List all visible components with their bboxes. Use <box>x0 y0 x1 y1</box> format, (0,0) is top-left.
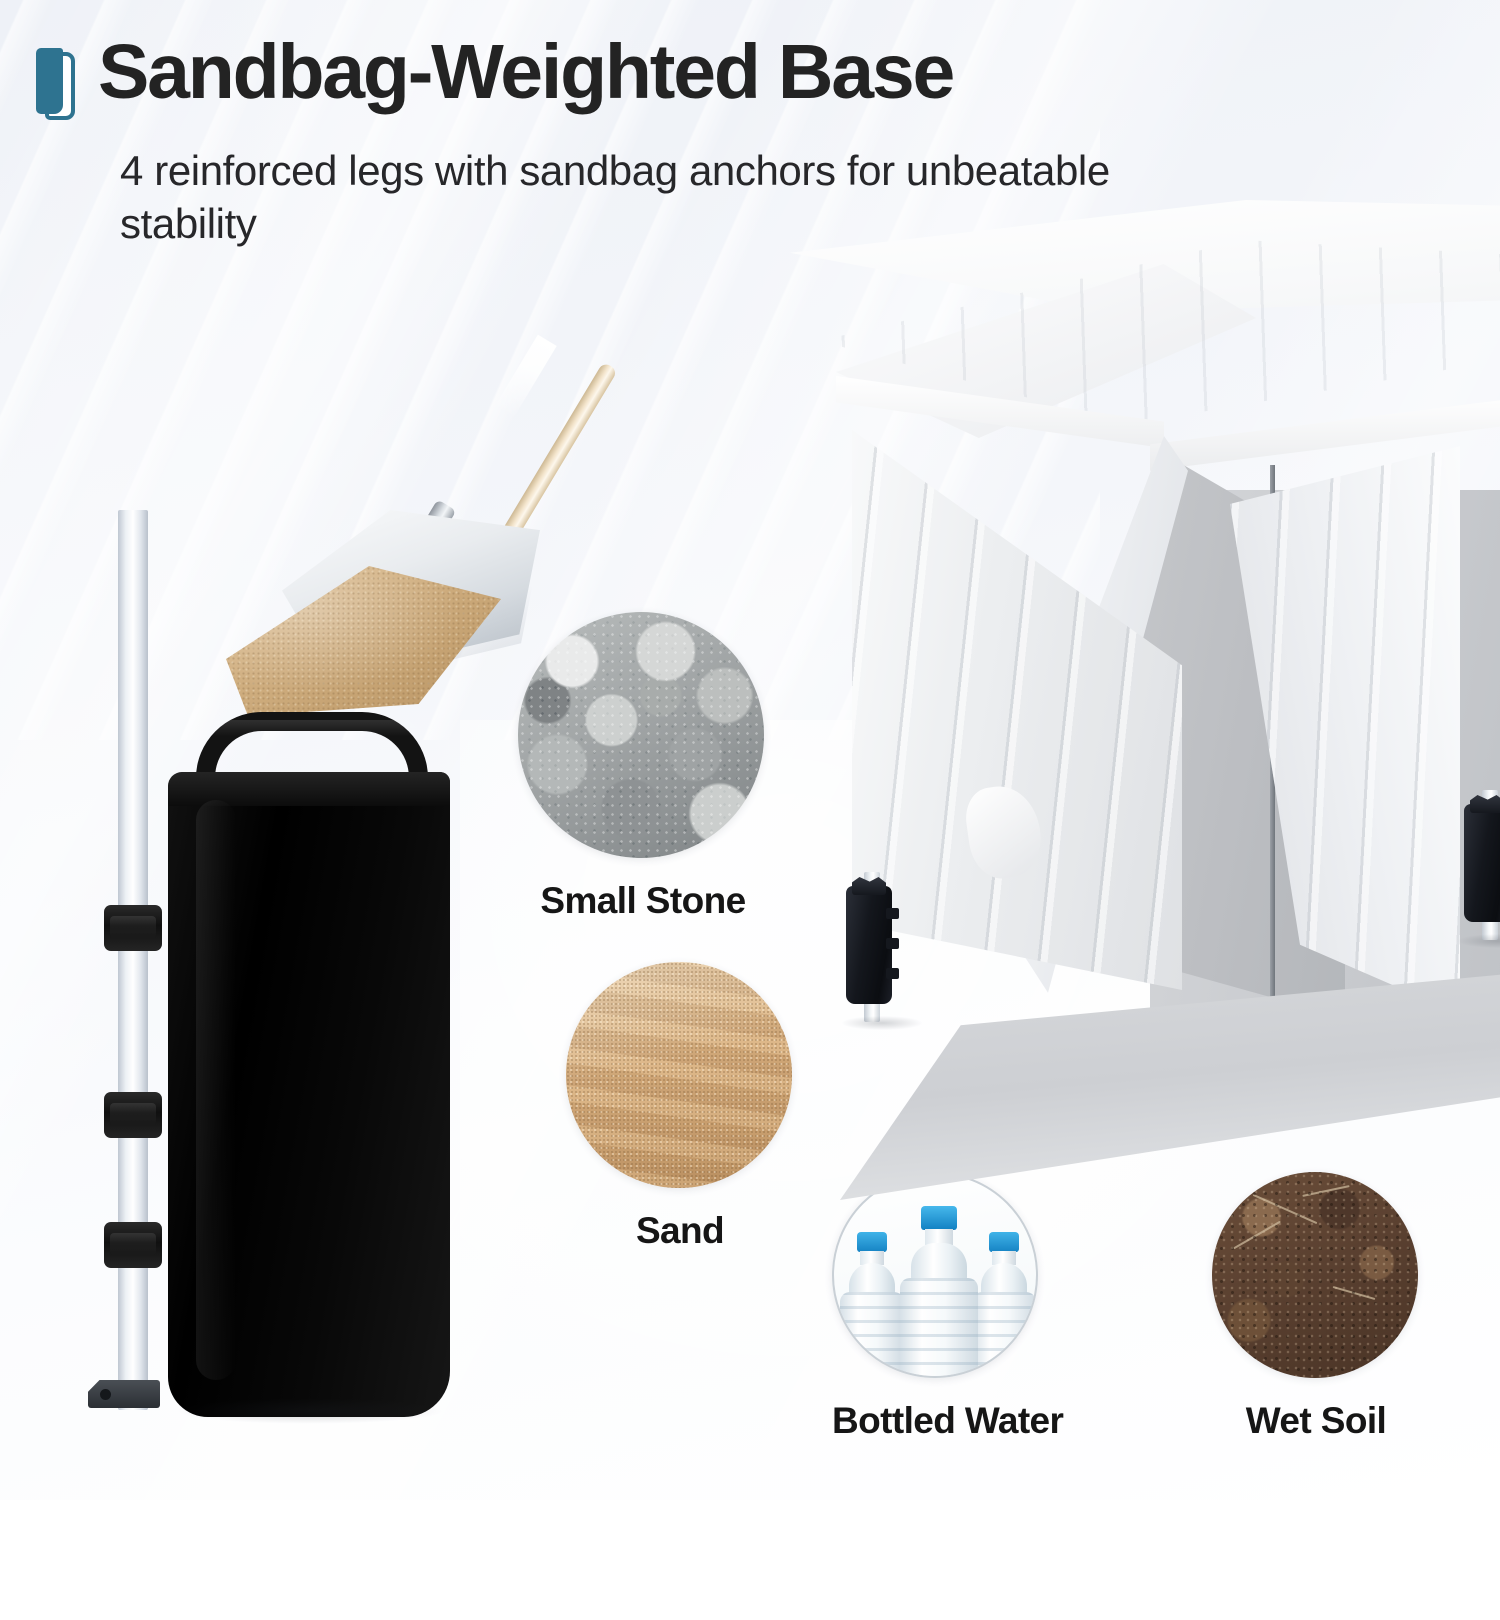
pop-up-canopy-tent <box>790 200 1500 1150</box>
water-bottle-right <box>972 1232 1036 1378</box>
small-stone-label: Small Stone <box>518 880 768 922</box>
bottle-body-center <box>900 1278 978 1378</box>
small-stone-image <box>518 612 764 858</box>
bottle-body-right <box>972 1292 1036 1378</box>
sand-label: Sand <box>566 1210 794 1252</box>
leg-weight-tab-left-3 <box>886 968 899 979</box>
pole-base-plate-hole <box>100 1389 111 1400</box>
material-bottled-water: Bottled Water <box>832 1172 1040 1442</box>
canopy-leg-weight-right <box>1464 804 1500 922</box>
bottle-shoulder-center <box>911 1243 967 1283</box>
sandbag-handle-highlight <box>206 720 418 736</box>
bottle-cap-right <box>989 1232 1019 1252</box>
pole-base-plate <box>88 1380 160 1408</box>
soil-twig-1 <box>1253 1194 1318 1224</box>
bottle-body-left <box>840 1292 904 1378</box>
leg-weight-tab-left-2 <box>886 938 899 949</box>
sandbag-strap-middle <box>104 1092 162 1138</box>
sand-image <box>566 962 792 1188</box>
bottled-water-image <box>832 1172 1038 1378</box>
sandbag-strap-bottom <box>104 1222 162 1268</box>
wet-soil-label: Wet Soil <box>1212 1400 1420 1442</box>
soil-twig-4 <box>1333 1286 1376 1300</box>
sandbag-strap-top <box>104 905 162 951</box>
bottled-water-label: Bottled Water <box>832 1400 1040 1442</box>
leg-shadow-left <box>842 1016 922 1030</box>
water-bottle-center <box>900 1206 978 1378</box>
bottle-cap-center <box>921 1206 957 1230</box>
material-small-stone: Small Stone <box>518 612 768 922</box>
soil-twig-3 <box>1302 1185 1349 1197</box>
material-wet-soil: Wet Soil <box>1212 1172 1420 1442</box>
canopy-leg-pole <box>118 510 148 1410</box>
water-bottle-left <box>840 1232 904 1378</box>
sandbag-highlight <box>196 800 236 1380</box>
bottle-cap-left <box>857 1232 887 1252</box>
canopy-side-wall-left-folds <box>852 430 1182 990</box>
soil-twig-2 <box>1233 1221 1281 1250</box>
wet-soil-image <box>1212 1172 1418 1378</box>
canopy-leg-weight-left <box>846 886 892 1004</box>
shovel-handle-fade <box>494 335 557 420</box>
leg-weight-tab-left-1 <box>886 908 899 919</box>
material-sand: Sand <box>566 962 794 1252</box>
sandbag-ground-shadow <box>176 1398 444 1424</box>
